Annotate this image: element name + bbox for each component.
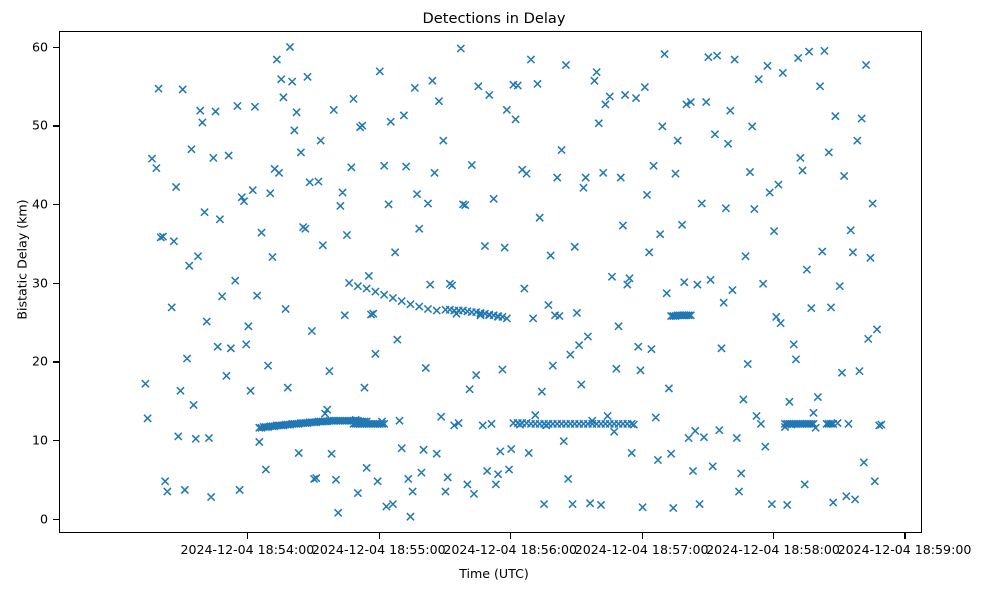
x-axis-tick-mark [642, 533, 643, 539]
y-axis-tick-label: 10 [8, 433, 48, 448]
x-axis-tick-label: 2024-12-04 18:56:00 [443, 542, 577, 557]
x-axis-tick-label: 2024-12-04 18:57:00 [575, 542, 709, 557]
scatter-layer [60, 32, 922, 533]
y-axis-tick-label: 60 [8, 39, 48, 54]
y-axis-tick-label: 50 [8, 118, 48, 133]
x-axis-tick-label: 2024-12-04 18:58:00 [706, 542, 840, 557]
x-axis-tick-mark [379, 533, 380, 539]
x-axis-label: Time (UTC) [0, 566, 988, 581]
y-axis-tick-label: 0 [8, 511, 48, 526]
x-axis-tick-mark [773, 533, 774, 539]
scatter-markers [142, 43, 885, 520]
x-axis-tick-label: 2024-12-04 18:55:00 [312, 542, 446, 557]
matplotlib-figure: Detections in Delay 0102030405060 2024-1… [0, 0, 988, 590]
x-axis-tick-mark [510, 533, 511, 539]
plot-area [59, 31, 922, 533]
x-axis-tick-mark [247, 533, 248, 539]
page-title: Detections in Delay [0, 10, 988, 27]
x-axis-tick-label: 2024-12-04 18:59:00 [838, 542, 972, 557]
x-axis-tick-label: 2024-12-04 18:54:00 [180, 542, 314, 557]
y-axis-label: Bistatic Delay (km) [15, 150, 30, 370]
x-axis-tick-mark [904, 533, 905, 539]
